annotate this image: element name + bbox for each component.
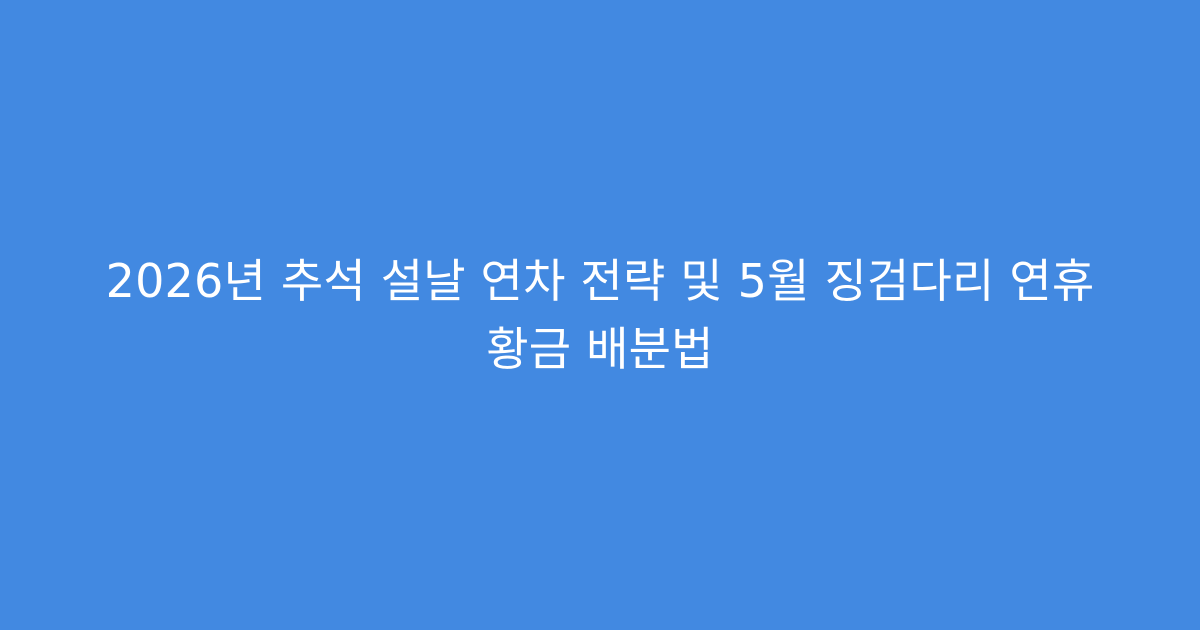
page-title: 2026년 추석 설날 연차 전략 및 5월 징검다리 연휴 황금 배분법 bbox=[72, 247, 1128, 383]
share-card: 2026년 추석 설날 연차 전략 및 5월 징검다리 연휴 황금 배분법 bbox=[0, 0, 1200, 630]
title-block: 2026년 추석 설날 연차 전략 및 5월 징검다리 연휴 황금 배분법 bbox=[72, 247, 1128, 383]
